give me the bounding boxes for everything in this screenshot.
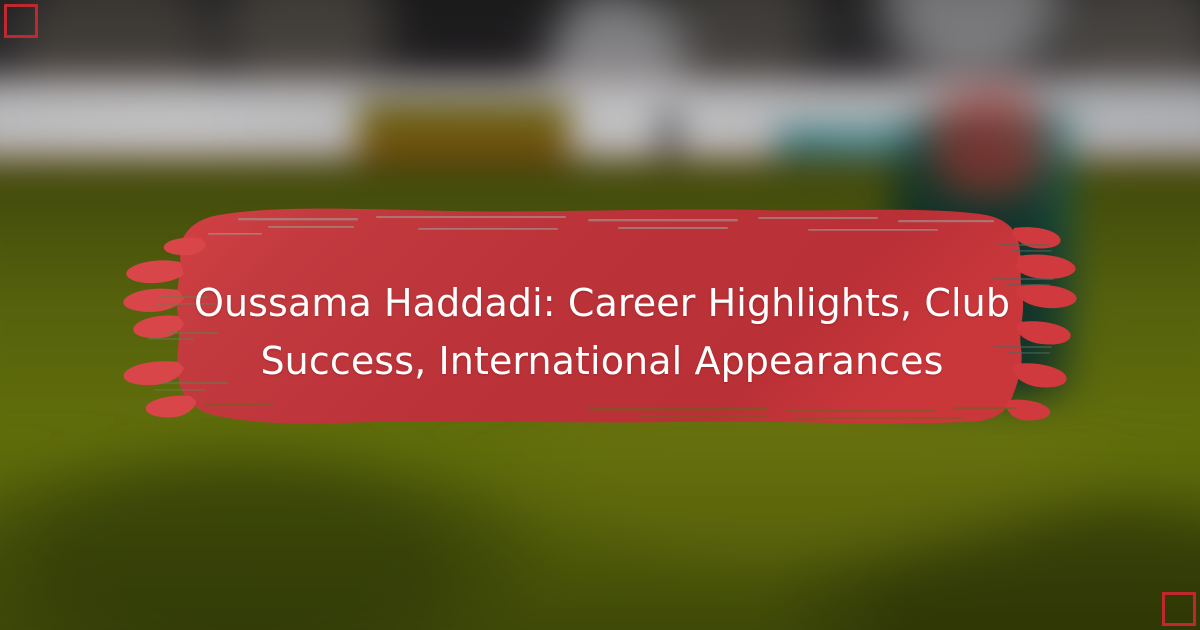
corner-line-left-long [4, 59, 7, 149]
corner-line-right-outer [1119, 568, 1122, 624]
title-line-1: Oussama Haddadi: Career Highlights, Club [192, 274, 1012, 332]
share-card: Oussama Haddadi: Career Highlights, Club… [0, 0, 1200, 630]
corner-line-bottom-inner [1034, 602, 1096, 604]
corner-line-left-inner [25, 80, 27, 142]
corner-line-right-inner [1173, 488, 1175, 550]
banner-title: Oussama Haddadi: Career Highlights, Club… [118, 274, 1086, 390]
corner-line-left-outer [78, 6, 81, 62]
title-banner: Oussama Haddadi: Career Highlights, Club… [118, 186, 1086, 448]
corner-line-right-long [1193, 481, 1196, 571]
corner-ornament-top-left [0, 0, 170, 160]
corner-line-top-outer [78, 6, 174, 9]
corner-ornament-bottom-right [1030, 470, 1200, 630]
corner-square-bottom-right [1162, 592, 1196, 626]
corner-line-top-inner [104, 26, 166, 28]
corner-line-bottom-outer [1026, 621, 1122, 624]
title-line-2: Success, International Appearances [192, 332, 1012, 390]
corner-line-elbow-br [1119, 568, 1196, 571]
corner-line-elbow [4, 59, 81, 62]
corner-square-top-left [4, 4, 38, 38]
